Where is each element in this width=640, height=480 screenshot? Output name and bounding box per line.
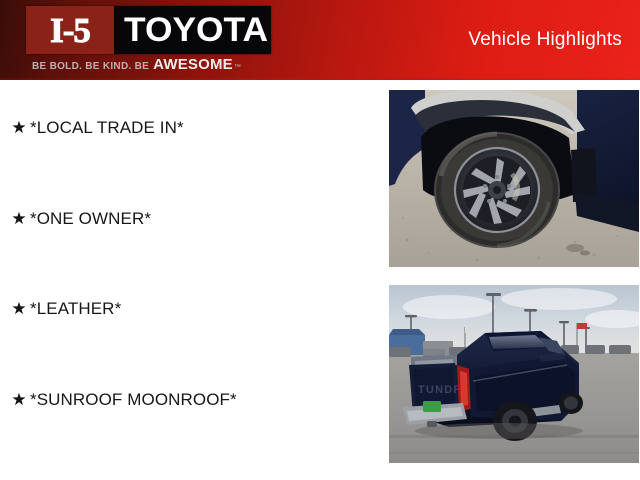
vehicle-highlights-list: ★ *LOCAL TRADE IN* ★ *ONE OWNER* ★ *LEAT… <box>0 80 380 480</box>
list-item: ★ *LOCAL TRADE IN* <box>0 118 380 209</box>
star-bullet-icon: ★ <box>8 390 30 410</box>
star-bullet-icon: ★ <box>8 299 30 319</box>
list-item-label: *ONE OWNER* <box>30 209 151 229</box>
dealer-logo[interactable]: I-5 TOYOTA BE BOLD. BE KIND. BE AWESOME … <box>26 6 276 74</box>
star-bullet-icon: ★ <box>8 118 30 138</box>
logo-i5-badge: I-5 <box>26 6 114 54</box>
list-item: ★ *LEATHER* <box>0 299 380 390</box>
logo-toyota-block: TOYOTA <box>114 6 271 54</box>
vehicle-photo-rear-graphic: TUNDRA <box>389 285 639 463</box>
tagline-large-text: AWESOME <box>153 56 233 73</box>
list-item-label: *SUNROOF MOONROOF* <box>30 390 237 410</box>
list-item: ★ *SUNROOF MOONROOF* <box>0 390 380 480</box>
page-title: Vehicle Highlights <box>468 0 622 80</box>
dealer-plate <box>423 401 441 412</box>
dealer-tagline: BE BOLD. BE KIND. BE AWESOME ™ <box>32 56 276 73</box>
logo-bar: I-5 TOYOTA <box>26 6 271 54</box>
page-header: I-5 TOYOTA BE BOLD. BE KIND. BE AWESOME … <box>0 0 640 80</box>
list-item-label: *LOCAL TRADE IN* <box>30 118 184 138</box>
vehicle-photo-wheel[interactable] <box>389 90 639 267</box>
logo-i5-text: I-5 <box>50 13 90 48</box>
trademark-symbol: ™ <box>234 64 241 71</box>
list-item-label: *LEATHER* <box>30 299 121 319</box>
vehicle-photo-rear[interactable]: TUNDRA <box>389 285 639 463</box>
star-bullet-icon: ★ <box>8 209 30 229</box>
tagline-small-text: BE BOLD. BE KIND. BE <box>32 61 149 72</box>
vehicle-photo-wheel-graphic <box>389 90 639 267</box>
list-item: ★ *ONE OWNER* <box>0 209 380 300</box>
logo-toyota-text: TOYOTA <box>124 13 268 47</box>
